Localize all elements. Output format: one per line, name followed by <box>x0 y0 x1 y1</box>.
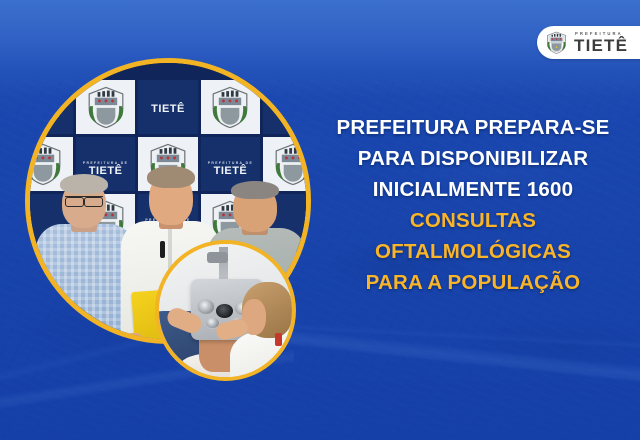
optometrist-coat <box>230 331 296 381</box>
optometrist-badge <box>275 333 282 346</box>
backdrop-tile-word: TIETÊ <box>263 103 311 115</box>
backdrop-tile: TIETÊ <box>138 80 197 134</box>
backdrop-tile-word: PREFEITURA DETIETÊ <box>25 103 73 120</box>
tiete-coat-of-arms-icon <box>211 84 250 129</box>
backdrop-tile-eyebrow: PREFEITURA DE <box>25 103 73 107</box>
headline-line-1: PREFEITURA PREPARA-SE <box>310 112 636 143</box>
optometrist <box>228 276 296 381</box>
person-right-hair <box>231 181 279 199</box>
backdrop-tile-word: TIETÊ <box>138 103 197 115</box>
person-center-hair <box>147 166 195 188</box>
person-left <box>36 168 135 344</box>
backdrop-tile <box>201 80 260 134</box>
headline-line-4: CONSULTAS <box>310 205 636 236</box>
social-card: PREFEITURA TIETÊ PREFEITURA DETIETÊ TIET… <box>0 0 640 440</box>
phoropter-mount <box>207 252 228 263</box>
headline-line-6: PARA A POPULAÇÃO <box>310 267 636 298</box>
headline-line-2: PARA DISPONIBILIZAR <box>310 143 636 174</box>
backdrop-tile <box>76 80 135 134</box>
person-left-shirt <box>36 224 135 344</box>
tiete-coat-of-arms-icon <box>546 31 567 54</box>
tiete-coat-of-arms-icon <box>86 84 125 129</box>
person-left-hair <box>60 174 108 195</box>
eyeglasses-icon <box>65 196 103 205</box>
backdrop-tile: PREFEITURA DETIETÊ <box>25 80 73 134</box>
headline-line-3: INICIALMENTE 1600 <box>310 174 636 205</box>
eye-exam-photo <box>155 240 296 381</box>
logo-eyebrow: PREFEITURA <box>574 32 628 36</box>
backdrop-tile: TIETÊ <box>263 80 311 134</box>
headline-line-5: OFTALMOLÓGICAS <box>310 236 636 267</box>
headline-block: PREFEITURA PREPARA-SE PARA DISPONIBILIZA… <box>310 112 636 298</box>
phoropter-lens <box>197 299 216 315</box>
prefeitura-logo: PREFEITURA TIETÊ <box>537 26 640 59</box>
logo-text-block: PREFEITURA TIETÊ <box>574 31 628 55</box>
logo-city-name: TIETÊ <box>574 37 628 54</box>
